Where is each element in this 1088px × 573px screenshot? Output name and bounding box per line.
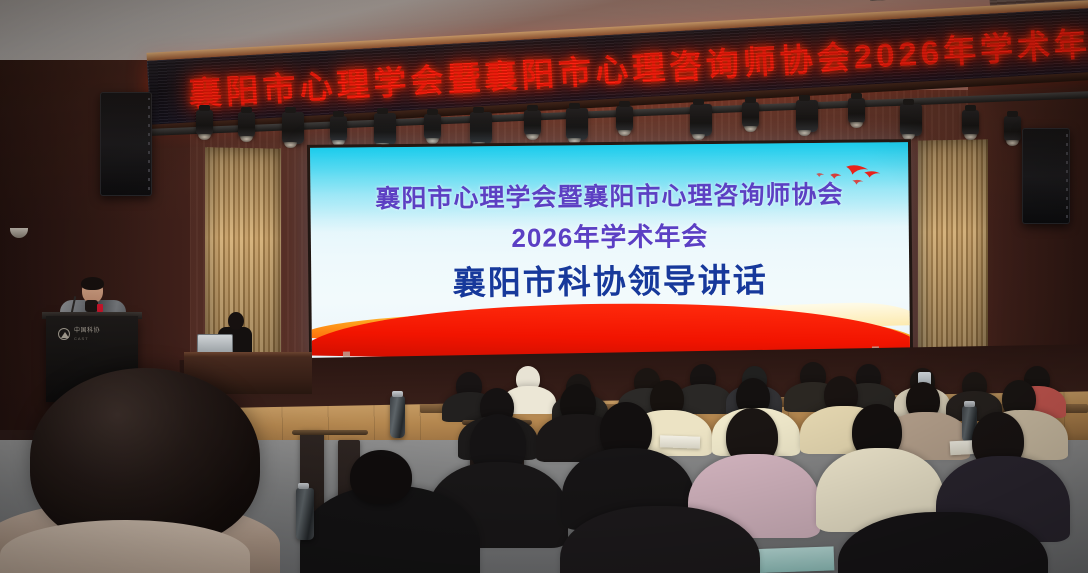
projection-screen: 襄阳市心理学会暨襄阳市心理咨询师协会 2026年学术年会 襄阳市科协领导讲话 bbox=[310, 142, 910, 360]
stage-spotlight bbox=[900, 104, 922, 136]
audience-head bbox=[350, 450, 412, 504]
stage-spotlight bbox=[196, 110, 213, 136]
stage-spotlight bbox=[330, 116, 347, 142]
line-array-speaker-left bbox=[100, 92, 152, 196]
speaker-badge bbox=[97, 304, 103, 312]
operator-head bbox=[228, 312, 244, 330]
laptop bbox=[197, 334, 233, 354]
auditorium-photo: 襄阳市心理学会暨襄阳市心理咨询师协会2026年学术年会 襄阳市心理学会暨襄阳市心… bbox=[0, 0, 1088, 573]
stage-spotlight bbox=[566, 108, 588, 140]
thermos bbox=[390, 396, 405, 438]
triangle-in-circle-icon bbox=[58, 328, 70, 340]
stage-spotlight bbox=[282, 112, 304, 144]
projection-screen-frame: 襄阳市心理学会暨襄阳市心理咨询师协会 2026年学术年会 襄阳市科协领导讲话 bbox=[307, 139, 913, 363]
stage-spotlight bbox=[524, 110, 541, 136]
stage-spotlight bbox=[848, 98, 865, 124]
line-array-speaker-right bbox=[1022, 128, 1070, 224]
stage-spotlight bbox=[742, 102, 759, 128]
handout-paper bbox=[660, 435, 700, 448]
stage-spotlight bbox=[616, 106, 633, 132]
stage-spotlight bbox=[1004, 116, 1021, 142]
stage-spotlight bbox=[424, 114, 441, 140]
stage-spotlight bbox=[796, 100, 818, 132]
slide-title: 襄阳市科协领导讲话 bbox=[311, 252, 909, 306]
stage-spotlight bbox=[962, 110, 979, 136]
podium-logo-text: 中国科协 CAST bbox=[74, 328, 100, 341]
stage-spotlight bbox=[374, 113, 396, 145]
thermos bbox=[296, 488, 314, 540]
podium-logo: 中国科协 CAST bbox=[58, 328, 100, 341]
chair-arm bbox=[292, 430, 368, 435]
speaker-hair bbox=[81, 277, 104, 290]
flying-birds-icon bbox=[794, 160, 884, 195]
stage-spotlight bbox=[470, 112, 492, 144]
stage-spotlight bbox=[690, 104, 712, 136]
slide-subtitle-line-2: 2026年学术年会 bbox=[311, 214, 909, 257]
stage-spotlight bbox=[238, 112, 255, 138]
